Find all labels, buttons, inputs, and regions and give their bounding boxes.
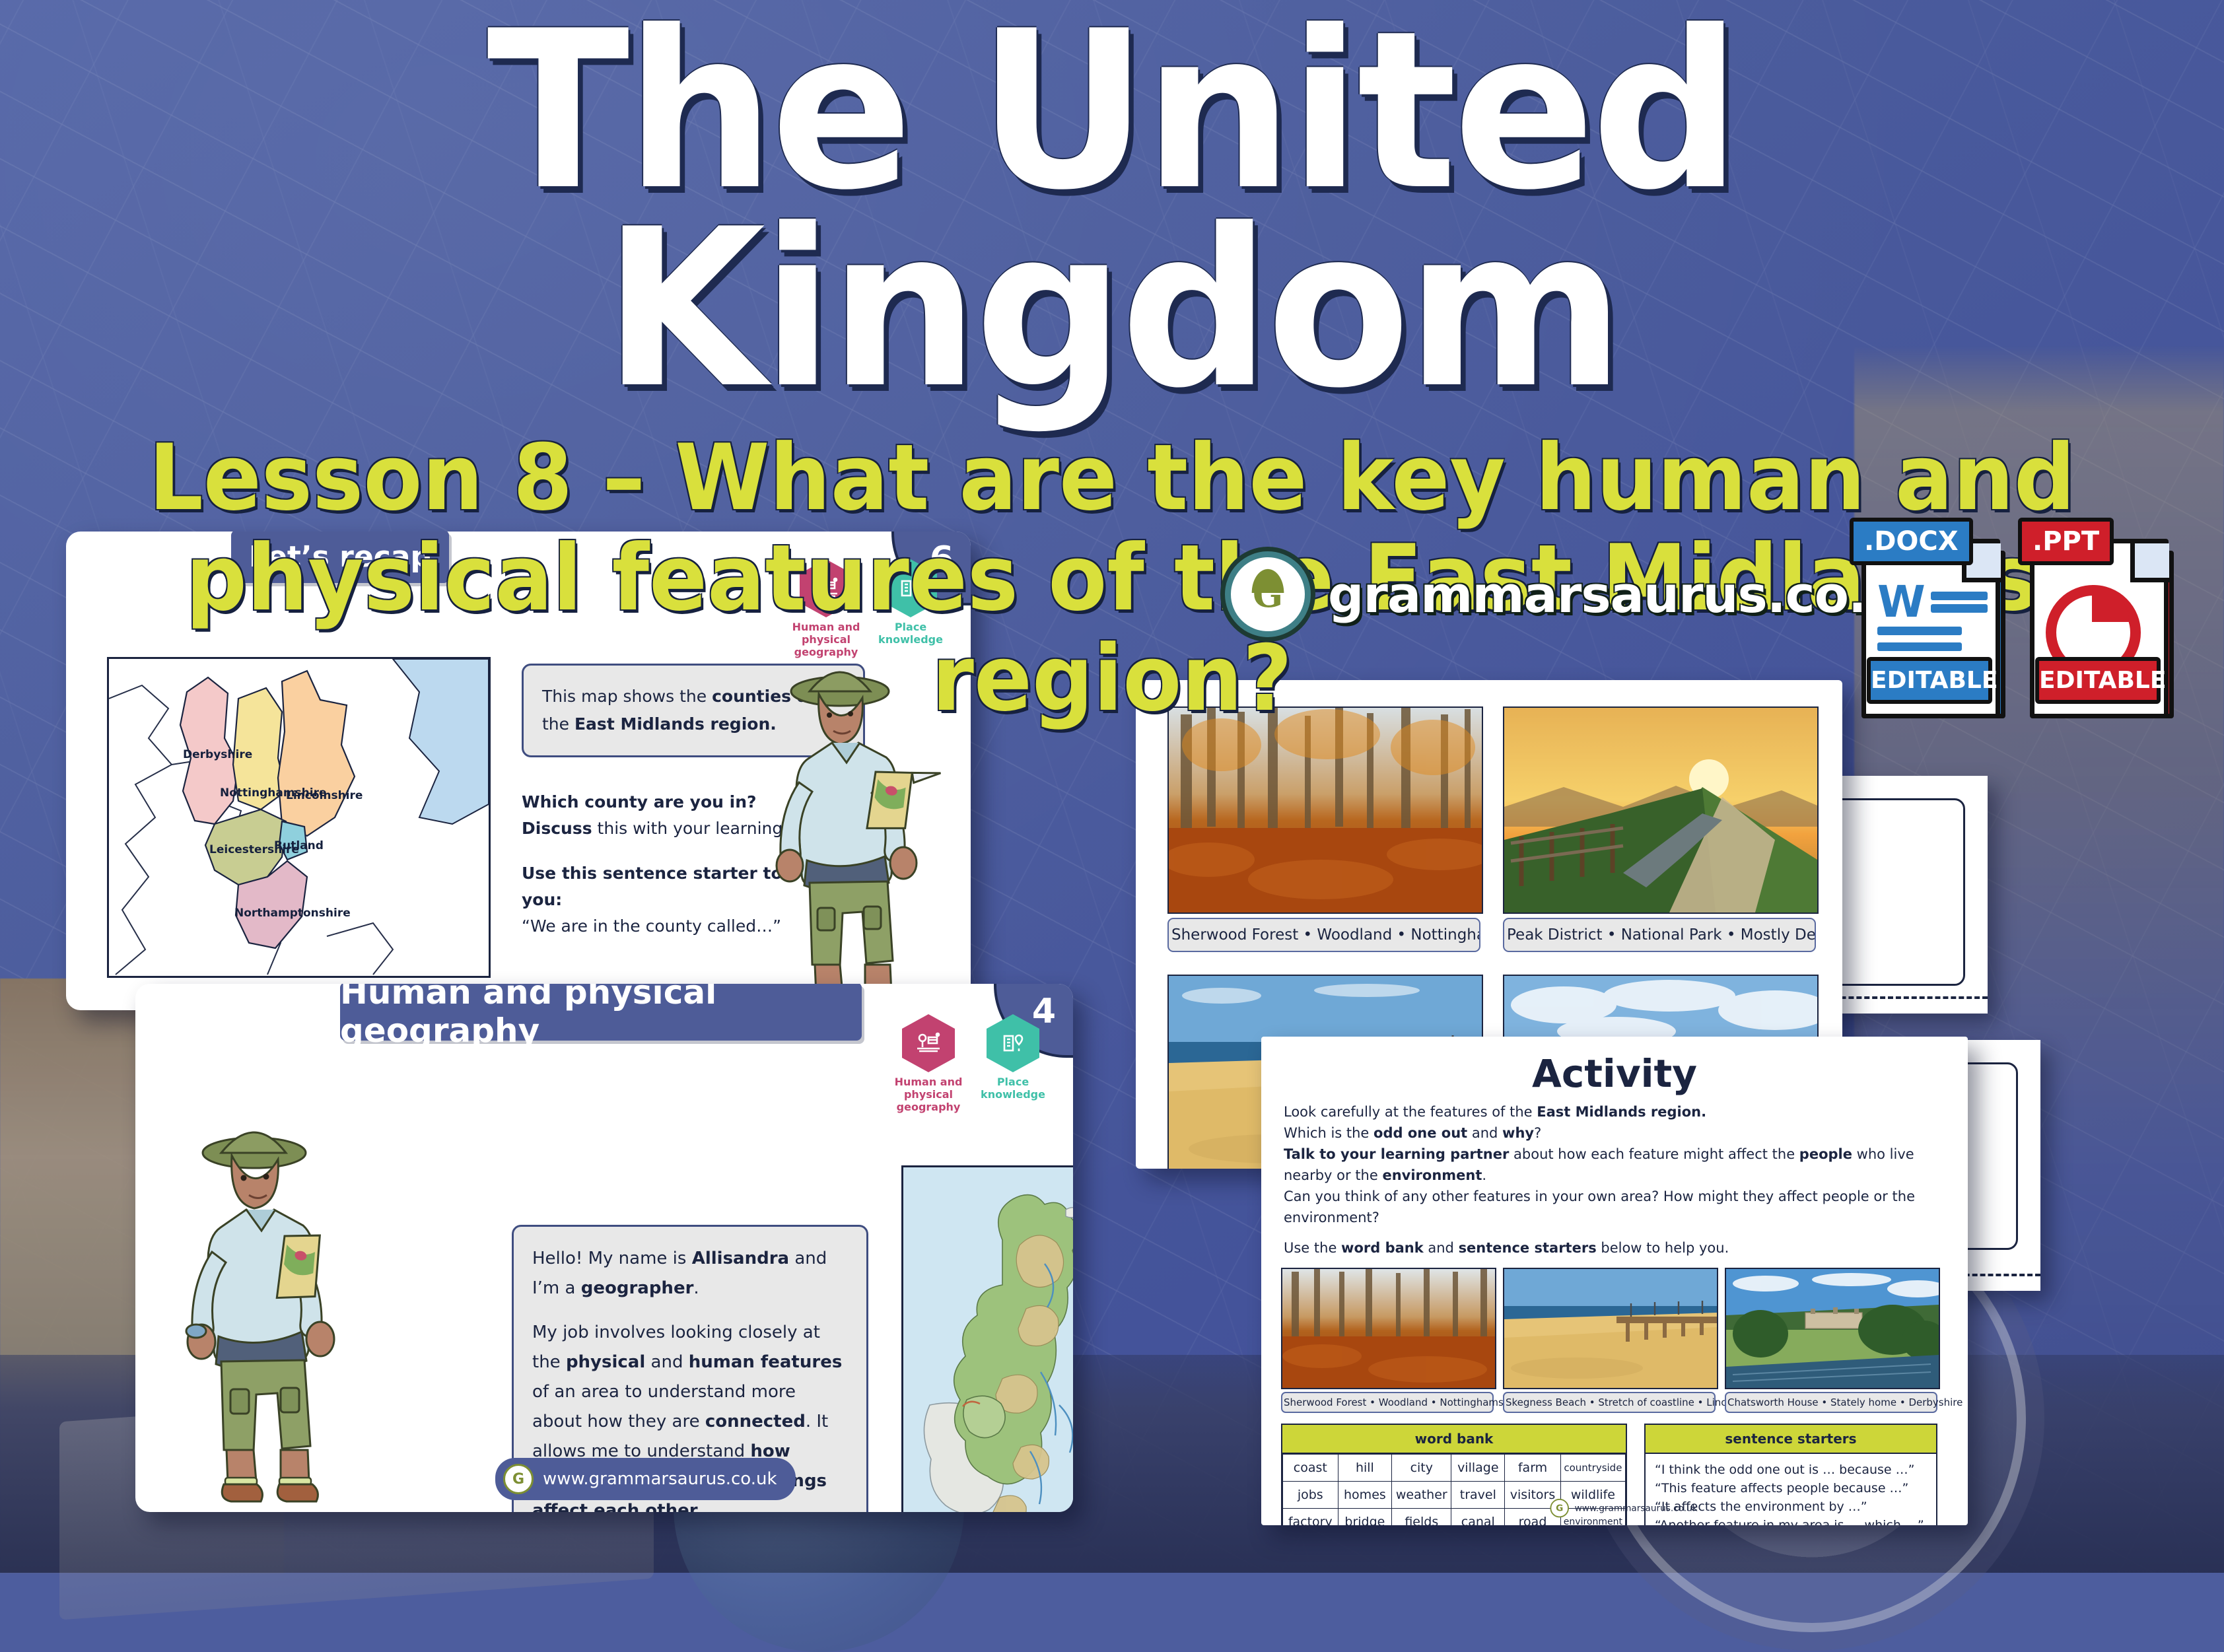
ppt-type-tag: .PPT — [2018, 518, 2114, 565]
footer-url-text: www.grammarsaurus.co.uk — [1575, 1503, 1698, 1513]
badge-human-physical-geography: Human andphysical geography — [892, 1014, 965, 1113]
brand-name: grammarsaurus.co.uk — [1328, 565, 1934, 624]
landscape-industry-icon — [902, 1014, 955, 1072]
activity-line: Look carefully at the features of the Ea… — [1284, 1101, 1945, 1122]
activity-line: Use the word bank and sentence starters … — [1284, 1237, 1945, 1258]
activity-images: Sherwood Forest • Woodland • Nottinghams… — [1261, 1258, 1968, 1413]
activity-line: Can you think of any other features in y… — [1284, 1186, 1945, 1228]
photo-caption: Sherwood Forest • Woodland • Nottinghams… — [1167, 918, 1480, 952]
word-cell: countryside — [1560, 1455, 1625, 1482]
sandy-beach-pier-photo — [1503, 1268, 1718, 1389]
grammarsaurus-dinosaur-head-icon: G — [503, 1464, 534, 1494]
word-cell: village — [1451, 1455, 1505, 1482]
word-bank-header: word bank — [1282, 1425, 1626, 1454]
county-label-rutland: Rutland — [274, 839, 324, 852]
hill-ridge-sunset-photo — [1503, 706, 1819, 914]
recap-question: Which county are you in? — [522, 792, 757, 811]
slide-human-physical-geography[interactable]: 4 Human and physical geography Human and… — [135, 984, 1073, 1512]
county-label-northamptonshire: Northamptonshire — [234, 907, 351, 920]
subject-badges: Human andphysical geography Placeknowled… — [892, 1014, 1049, 1113]
activity-image-cell[interactable]: Sherwood Forest • Woodland • Nottinghams… — [1281, 1268, 1494, 1413]
activity-image-caption: Chatsworth House • Stately home • Derbys… — [1725, 1392, 1937, 1413]
ppt-editable-label: EDITABLE — [2035, 657, 2161, 704]
word-cell: jobs — [1283, 1482, 1338, 1509]
leaf-shape — [1247, 563, 1288, 593]
word-cell: weather — [1392, 1482, 1451, 1509]
stately-home-river-photo — [1725, 1268, 1940, 1389]
word-cell: city — [1392, 1455, 1451, 1482]
word-cell: canal — [1451, 1509, 1505, 1526]
badge-label: Placeknowledge — [977, 1076, 1049, 1101]
page-title: The United Kingdom — [44, 12, 2179, 408]
brand-logo[interactable]: G grammarsaurus.co.uk — [1225, 551, 1934, 637]
activity-title: Activity — [1261, 1037, 1968, 1099]
county-label-lincolnshire: Lincolnshire — [286, 789, 363, 802]
grammarsaurus-dinosaur-head-icon: G — [1225, 551, 1311, 637]
word-cell: bridge — [1338, 1509, 1392, 1526]
activity-footer-url[interactable]: G www.grammarsaurus.co.uk — [1545, 1495, 1709, 1521]
word-cell: farm — [1505, 1455, 1561, 1482]
county-label-derbyshire: Derbyshire — [183, 748, 252, 761]
grammarsaurus-dinosaur-head-icon: G — [1550, 1499, 1569, 1518]
city-pin-icon — [987, 1014, 1039, 1072]
docx-type-tag: .DOCX — [1850, 518, 1973, 565]
activity-image-caption: Sherwood Forest • Woodland • Nottinghams… — [1281, 1392, 1494, 1413]
word-document-icon: W — [1877, 585, 1988, 658]
word-cell: factory — [1283, 1509, 1338, 1526]
footer-url-pill[interactable]: G www.grammarsaurus.co.uk — [495, 1458, 796, 1500]
badge-place-knowledge: Placeknowledge — [977, 1014, 1049, 1113]
word-cell: coast — [1283, 1455, 1338, 1482]
activity-image-caption: Skegness Beach • Stretch of coastline • … — [1503, 1392, 1716, 1413]
activity-line: Which is the odd one out and why? — [1284, 1122, 1945, 1144]
autumn-woodland-photo — [1167, 706, 1483, 914]
badge-label: Human andphysical geography — [892, 1076, 965, 1113]
photo-cell[interactable]: Sherwood Forest • Woodland • Nottinghams… — [1167, 706, 1480, 952]
geographer-character-illustration — [155, 1089, 373, 1512]
table-row: coast hill city village farm countryside — [1283, 1455, 1626, 1482]
photo-caption: Peak District • National Park • Mostly D… — [1503, 918, 1816, 952]
docx-file-badge[interactable]: .DOCX W EDITABLE — [1852, 522, 2005, 713]
activity-image-cell[interactable]: Chatsworth House • Stately home • Derbys… — [1725, 1268, 1937, 1413]
uk-physical-map — [901, 1165, 1073, 1512]
slide-title: Human and physical geography — [340, 984, 862, 1041]
activity-line: Talk to your learning partner about how … — [1284, 1144, 1945, 1186]
sentence-starters-header: sentence starters — [1646, 1425, 1936, 1454]
activity-instructions: Look carefully at the features of the Ea… — [1261, 1099, 1968, 1258]
word-cell: homes — [1338, 1482, 1392, 1509]
word-cell: hill — [1338, 1455, 1392, 1482]
list-item: “I think the odd one out is … because …” — [1655, 1461, 1927, 1479]
photo-cell[interactable]: Peak District • National Park • Mostly D… — [1503, 706, 1816, 952]
word-cell: travel — [1451, 1482, 1505, 1509]
page-fold-icon — [2130, 543, 2169, 582]
activity-image-cell[interactable]: Skegness Beach • Stretch of coastline • … — [1503, 1268, 1716, 1413]
autumn-woodland-photo — [1281, 1268, 1496, 1389]
activity-worksheet[interactable]: Activity Look carefully at the features … — [1261, 1037, 1968, 1525]
footer-url-text: www.grammarsaurus.co.uk — [543, 1469, 777, 1489]
docx-editable-label: EDITABLE — [1867, 657, 1992, 704]
word-cell: fields — [1392, 1509, 1451, 1526]
ppt-file-badge[interactable]: .PPT EDITABLE — [2021, 522, 2174, 713]
